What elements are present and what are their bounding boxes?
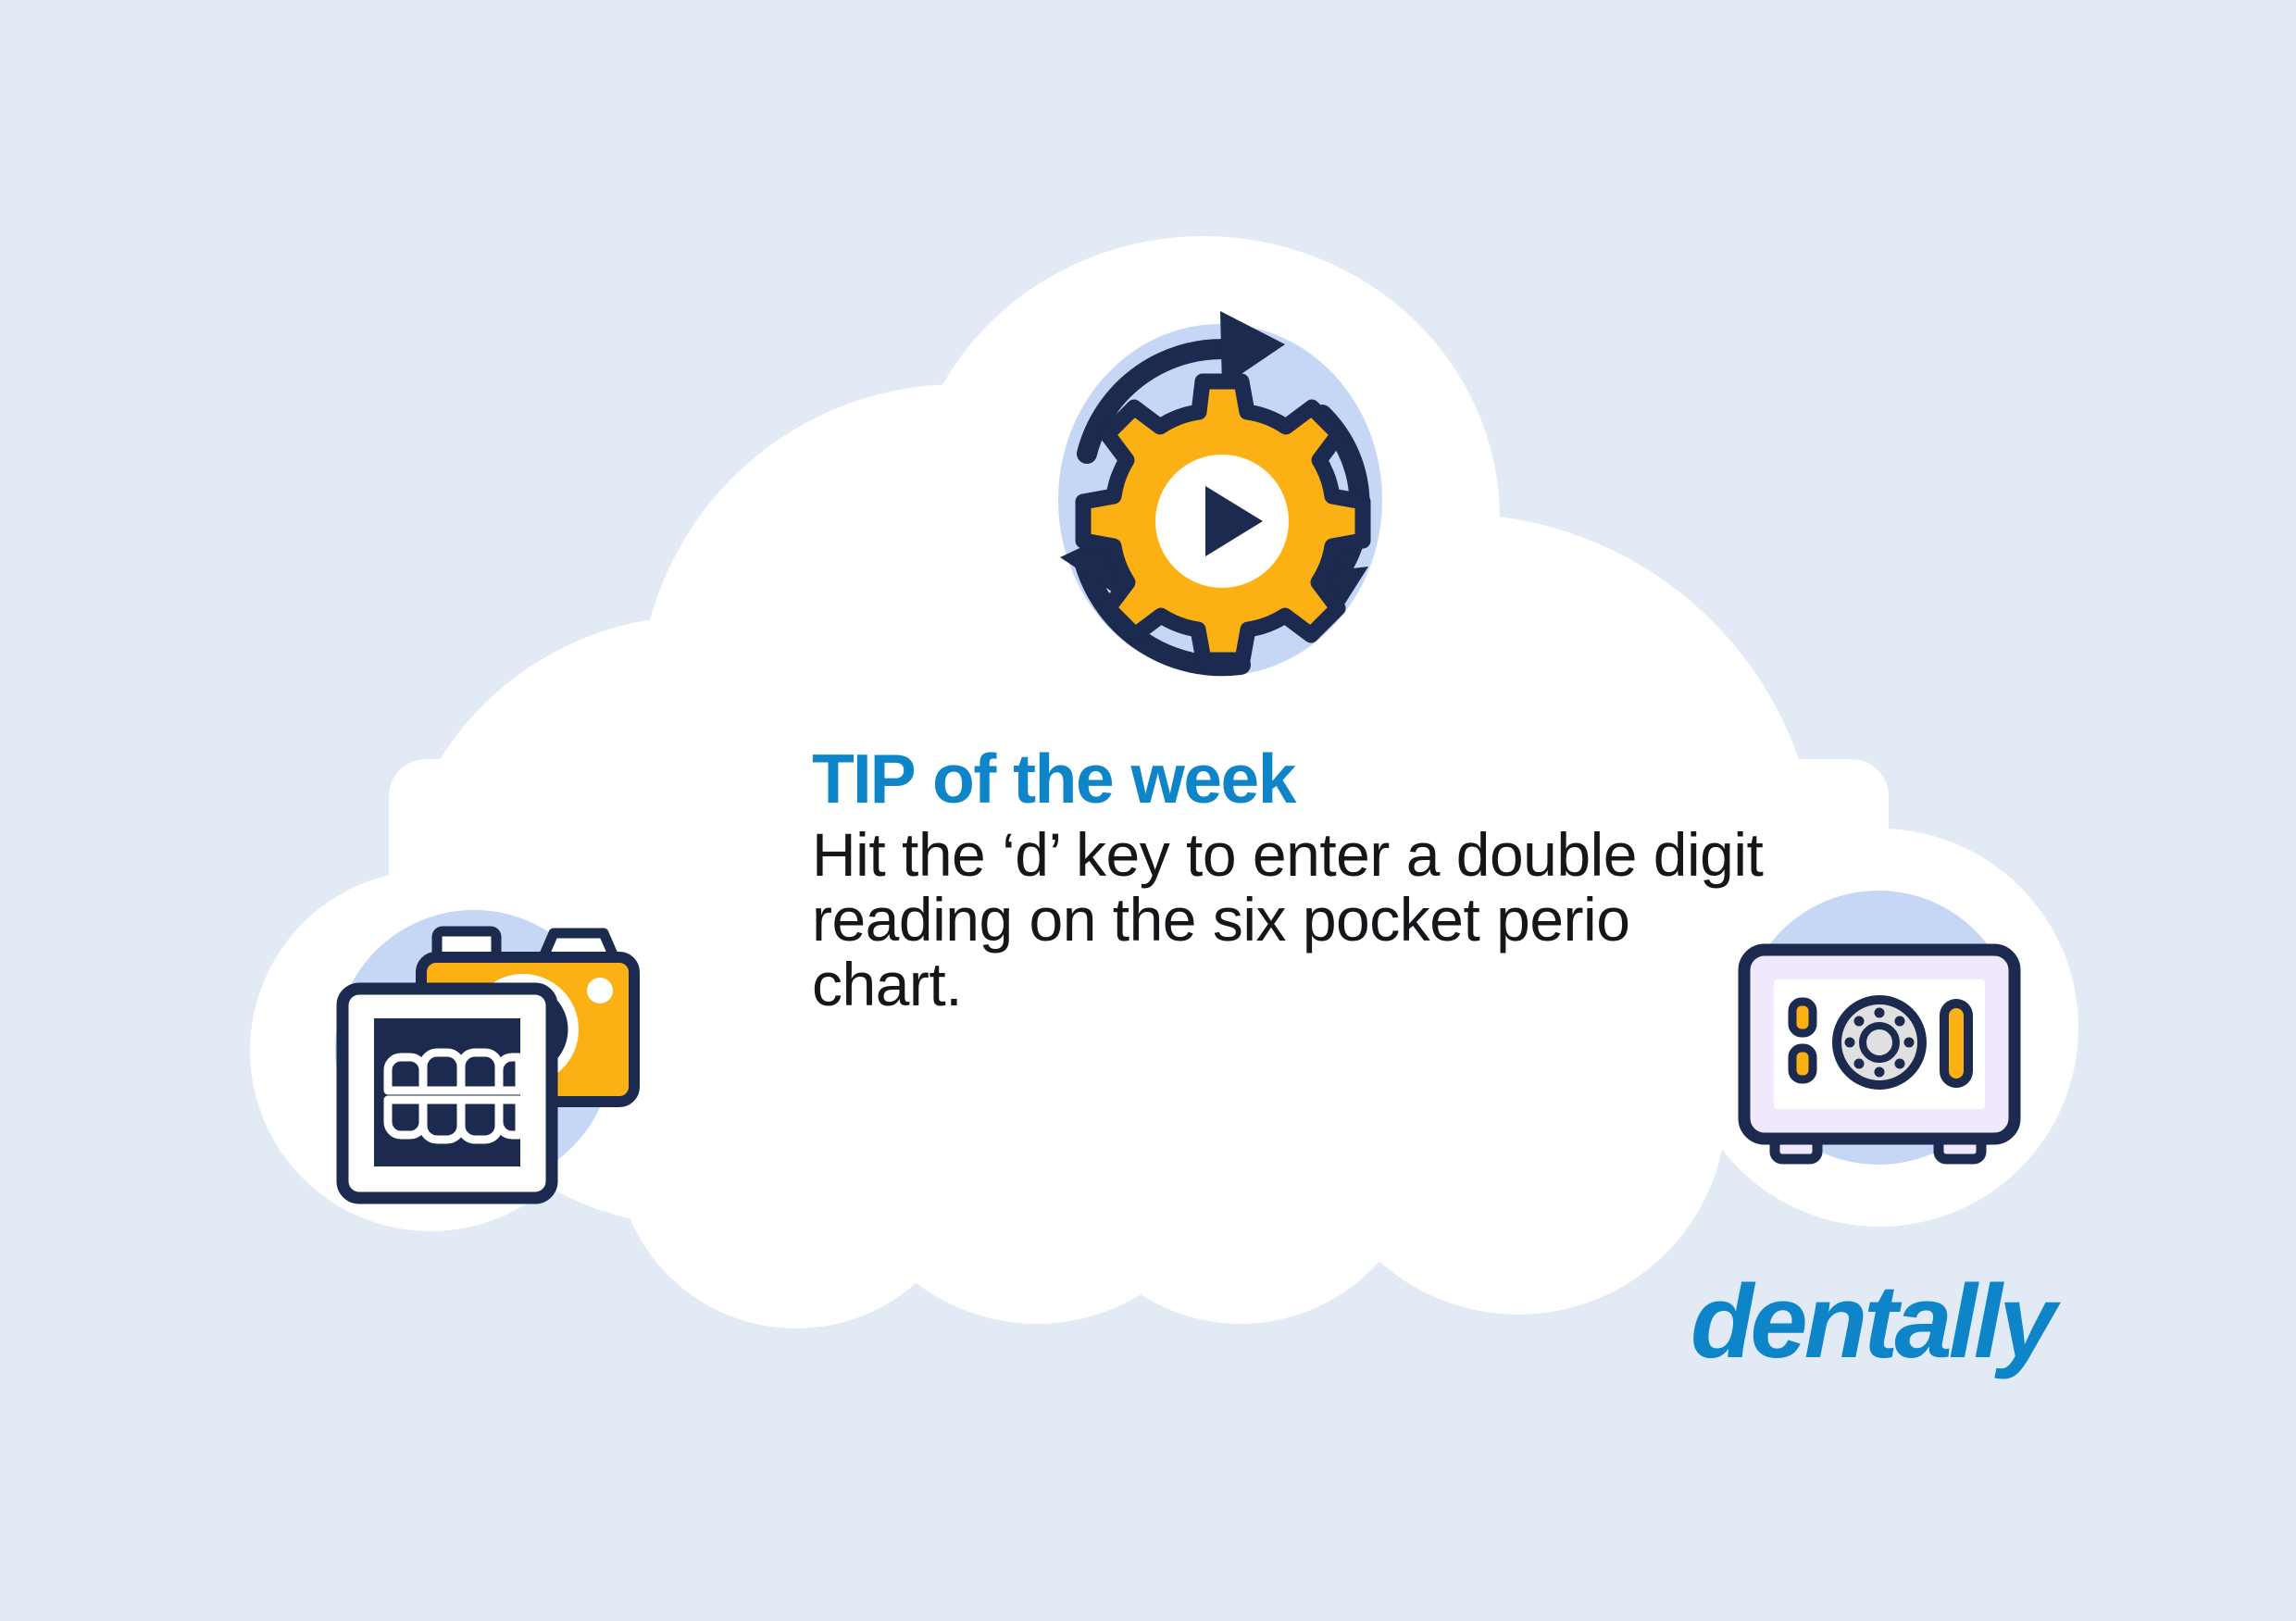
dentally-logo: dentally [1691,1270,2053,1374]
logo-layer: dentally [0,0,2296,1621]
poster-canvas: TIP of the week Hit the ‘d’ key to enter… [0,0,2296,1621]
